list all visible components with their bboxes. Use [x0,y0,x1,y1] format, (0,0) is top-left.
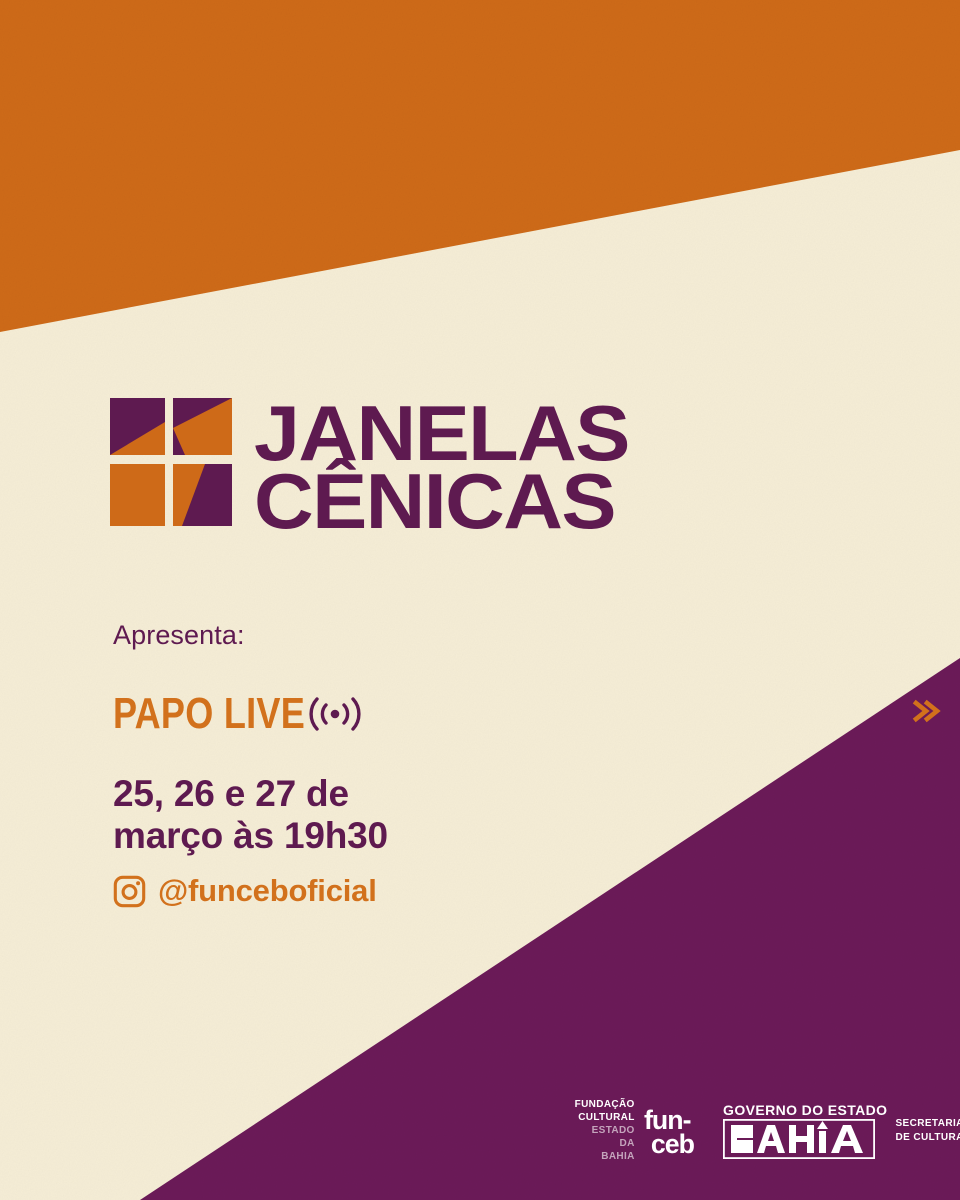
live-broadcast-icon [306,690,364,738]
brand-wordmark-line1: JANELAS [254,402,629,464]
footer-logo-bar: FUNDAÇÃO CULTURAL ESTADO DA BAHIA fun- c… [574,1098,960,1163]
secretaria-label: SECRETARIA DE CULTURA [895,1117,960,1144]
funceb-line-2: CULTURAL [574,1111,635,1124]
event-details-block: Apresenta: PAPO LIVE 25, 26 e 27 de març… [113,620,633,909]
funceb-line-4: BAHIA [574,1150,635,1163]
funceb-line-3: ESTADO DA [574,1124,635,1150]
poster-canvas: JANELAS CÊNICAS Apresenta: PAPO LIVE 25,… [0,0,960,1200]
secretaria-line-2: DE CULTURA [895,1132,960,1143]
svg-text:ceb: ceb [651,1128,695,1156]
funceb-line-1: FUNDAÇÃO [574,1098,635,1111]
funceb-logo: FUNDAÇÃO CULTURAL ESTADO DA BAHIA fun- c… [574,1098,707,1163]
program-title: PAPO LIVE [113,689,305,739]
presents-label: Apresenta: [113,620,633,651]
brand-logo-lockup: JANELAS CÊNICAS [110,398,608,533]
brand-wordmark-line2: CÊNICAS [254,470,629,532]
government-logo-stack: GOVERNO DO ESTADO [723,1103,887,1159]
window-grid-mark-icon [110,398,232,526]
background-bands [0,0,960,1200]
instagram-icon[interactable] [113,875,146,908]
program-title-row: PAPO LIVE [113,689,633,739]
funceb-logo-text: FUNDAÇÃO CULTURAL ESTADO DA BAHIA [574,1098,635,1163]
bahia-wordmark-icon [723,1119,875,1159]
government-logo: GOVERNO DO ESTADO [723,1103,960,1159]
funceb-monogram-icon: fun- ceb [644,1105,707,1157]
event-date-line-1: 25, 26 e 27 de [113,773,633,815]
secretaria-line-1: SECRETARIA [895,1118,960,1129]
event-date-line-2: março às 19h30 [113,815,633,857]
instagram-row[interactable]: @funceboficial [113,873,633,909]
government-top-line: GOVERNO DO ESTADO [723,1103,887,1117]
double-chevron-right-icon [908,694,942,728]
brand-wordmark: JANELAS CÊNICAS [254,398,608,533]
instagram-handle[interactable]: @funceboficial [158,873,377,909]
